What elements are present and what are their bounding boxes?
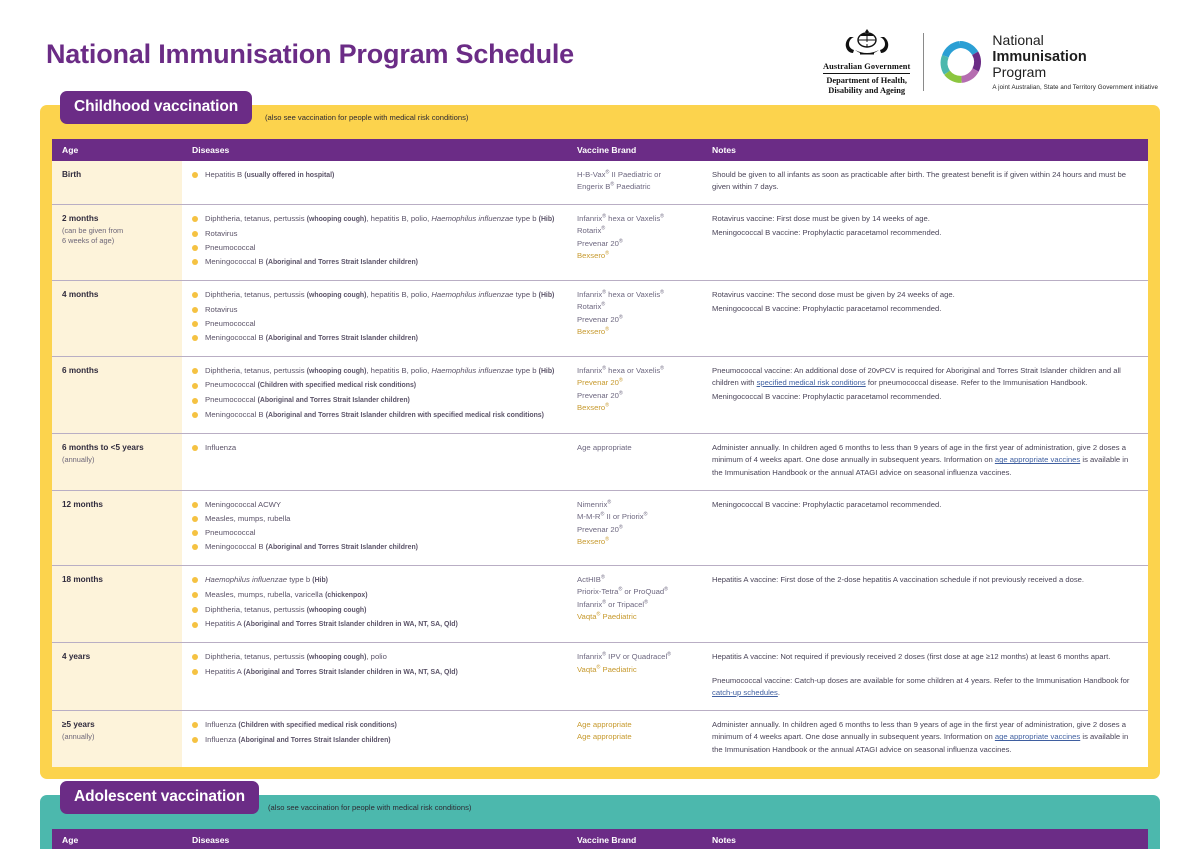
row-age-sub: (annually) (62, 455, 172, 466)
cell-notes: Rotavirus vaccine: First dose must be gi… (702, 205, 1148, 281)
gov-dept-line-b: Disability and Ageing (828, 86, 905, 95)
disease-item: Diphtheria, tetanus, pertussis (whooping… (192, 604, 557, 616)
vaccine-brand-line: Bexsero® (577, 402, 692, 414)
vaccine-brand-line: Vaqta® Paediatric (577, 664, 692, 676)
vaccine-brand-line: Prevenar 20® (577, 238, 692, 250)
vaccine-brand-line: Infanrix® or Tripacel® (577, 599, 692, 611)
disease-item: Meningococcal B (Aboriginal and Torres S… (192, 409, 557, 421)
table-row: 2 months(can be given from6 weeks of age… (52, 205, 1148, 281)
childhood-section-note: (also see vaccination for people with me… (265, 113, 468, 122)
disease-item: Pneumococcal (Aboriginal and Torres Stra… (192, 394, 557, 406)
childhood-table-body: BirthHepatitis B (usually offered in hos… (52, 161, 1148, 767)
disease-item: Hepatitis A (Aboriginal and Torres Strai… (192, 618, 557, 630)
disease-list: Hepatitis B (usually offered in hospital… (192, 169, 557, 181)
adolescent-header-row: Age Diseases Vaccine Brand Notes (52, 829, 1148, 849)
row-age-main: Birth (62, 169, 172, 182)
cell-diseases: Diphtheria, tetanus, pertussis (whooping… (182, 356, 567, 433)
childhood-schedule-table: Age Diseases Vaccine Brand Notes BirthHe… (52, 139, 1148, 767)
note-line: Meningococcal B vaccine: Prophylactic pa… (712, 303, 1138, 315)
row-age-sub: (can be given from6 weeks of age) (62, 226, 172, 247)
disease-item: Hepatitis B (usually offered in hospital… (192, 169, 557, 181)
disease-item: Influenza (Children with specified medic… (192, 719, 557, 731)
cell-vaccine-brand: ActHIB®Priorix-Tetra® or ProQuad®Infanri… (567, 565, 702, 642)
table-row: 4 yearsDiphtheria, tetanus, pertussis (w… (52, 643, 1148, 711)
gov-logo-line1: Australian Government (823, 62, 910, 74)
cell-vaccine-brand: Infanrix® IPV or Quadracel®Vaqta® Paedia… (567, 643, 702, 711)
cell-age: 12 months (52, 490, 182, 565)
inline-link[interactable]: age appropriate vaccines (995, 455, 1080, 464)
note-line: Meningococcal B vaccine: Prophylactic pa… (712, 499, 1138, 511)
row-age-sub: (annually) (62, 732, 172, 743)
cell-age: 6 months (52, 356, 182, 433)
disease-item: Diphtheria, tetanus, pertussis (whooping… (192, 213, 557, 225)
nip-line-national: National (992, 33, 1158, 49)
row-age-main: 18 months (62, 574, 172, 587)
table-row: ≥5 years(annually)Influenza (Children wi… (52, 711, 1148, 767)
disease-item: Meningococcal B (Aboriginal and Torres S… (192, 332, 557, 344)
vaccine-brand-line: Prevenar 20® (577, 390, 692, 402)
cell-vaccine-brand: Infanrix® hexa or Vaxelis®Rotarix®Preven… (567, 280, 702, 356)
note-line: Meningococcal B vaccine: Prophylactic pa… (712, 391, 1138, 403)
vaccine-brand-line: Prevenar 20® (577, 524, 692, 536)
cell-notes: Should be given to all infants as soon a… (702, 161, 1148, 205)
disease-list: Diphtheria, tetanus, pertussis (whooping… (192, 365, 557, 422)
disease-item: Meningococcal ACWY (192, 499, 557, 511)
nip-logo-text: National Immunisation Program A joint Au… (992, 33, 1158, 91)
cell-diseases: Diphtheria, tetanus, pertussis (whooping… (182, 280, 567, 356)
cell-age: Birth (52, 161, 182, 205)
disease-list: Diphtheria, tetanus, pertussis (whooping… (192, 213, 557, 268)
vaccine-brand-line: Bexsero® (577, 326, 692, 338)
disease-list: Diphtheria, tetanus, pertussis (whooping… (192, 289, 557, 344)
vaccine-brand-line: Bexsero® (577, 250, 692, 262)
vaccine-brand-line: Priorix-Tetra® or ProQuad® (577, 586, 692, 598)
col-header-age: Age (52, 139, 182, 161)
disease-item: Rotavirus (192, 228, 557, 240)
cell-age: 4 years (52, 643, 182, 711)
national-immunisation-program-logo: National Immunisation Program A joint Au… (937, 33, 1158, 91)
disease-item: Diphtheria, tetanus, pertussis (whooping… (192, 651, 557, 663)
cell-age: ≥5 years(annually) (52, 711, 182, 767)
row-age-main: 12 months (62, 499, 172, 512)
cell-vaccine-brand: Age appropriate (567, 434, 702, 491)
inline-link[interactable]: specified medical risk conditions (757, 378, 866, 387)
cell-notes: Administer annually. In children aged 6 … (702, 434, 1148, 491)
vaccine-brand-line: Nimenrix® (577, 499, 692, 511)
disease-item: Pneumococcal (Children with specified me… (192, 379, 557, 391)
adolescent-section-note: (also see vaccination for people with me… (268, 803, 471, 812)
vaccine-brand-line: H-B-Vax® II Paediatric or (577, 169, 692, 181)
note-line: Hepatitis A vaccine: Not required if pre… (712, 651, 1138, 663)
row-age-main: 4 months (62, 289, 172, 302)
col-header-notes: Notes (702, 829, 1148, 849)
childhood-section-tab: Childhood vaccination (60, 91, 252, 124)
note-line: Hepatitis A vaccine: First dose of the 2… (712, 574, 1138, 586)
cell-notes: Hepatitis A vaccine: First dose of the 2… (702, 565, 1148, 642)
disease-item: Measles, mumps, rubella (192, 513, 557, 525)
cell-notes: Pneumococcal vaccine: An additional dose… (702, 356, 1148, 433)
cell-diseases: Influenza (Children with specified medic… (182, 711, 567, 767)
disease-item: Diphtheria, tetanus, pertussis (whooping… (192, 289, 557, 301)
disease-list: Influenza (Children with specified medic… (192, 719, 557, 746)
disease-item: Hepatitis A (Aboriginal and Torres Strai… (192, 666, 557, 678)
vaccine-brand-line: Rotarix® (577, 301, 692, 313)
cell-notes: Administer annually. In children aged 6 … (702, 711, 1148, 767)
cell-diseases: Influenza (182, 434, 567, 491)
vaccine-brand-line: Prevenar 20® (577, 377, 692, 389)
immunisation-schedule-page: National Immunisation Program Schedule (0, 0, 1200, 849)
note-line: Rotavirus vaccine: First dose must be gi… (712, 213, 1138, 225)
vaccine-brand-line: Prevenar 20® (577, 314, 692, 326)
cell-vaccine-brand: Infanrix® hexa or Vaxelis®Prevenar 20®Pr… (567, 356, 702, 433)
table-row: BirthHepatitis B (usually offered in hos… (52, 161, 1148, 205)
col-header-diseases: Diseases (182, 829, 567, 849)
cell-diseases: Meningococcal ACWYMeasles, mumps, rubell… (182, 490, 567, 565)
disease-item: Pneumococcal (192, 527, 557, 539)
vaccine-brand-line: Age appropriate (577, 719, 692, 731)
cell-diseases: Haemophilus influenzae type b (Hib)Measl… (182, 565, 567, 642)
note-spacer (712, 666, 1138, 675)
disease-item: Rotavirus (192, 304, 557, 316)
childhood-header-row: Age Diseases Vaccine Brand Notes (52, 139, 1148, 161)
table-row: 6 months to <5 years(annually)InfluenzaA… (52, 434, 1148, 491)
cell-diseases: Diphtheria, tetanus, pertussis (whooping… (182, 643, 567, 711)
logo-divider (923, 33, 924, 91)
disease-item: Meningococcal B (Aboriginal and Torres S… (192, 541, 557, 553)
row-age-main: 6 months to <5 years (62, 442, 172, 455)
childhood-vaccination-panel: Childhood vaccination (also see vaccinat… (40, 105, 1160, 779)
vaccine-brand-line: ActHIB® (577, 574, 692, 586)
cell-diseases: Diphtheria, tetanus, pertussis (whooping… (182, 205, 567, 281)
page-title: National Immunisation Program Schedule (46, 26, 574, 70)
note-line: Administer annually. In children aged 6 … (712, 442, 1138, 479)
disease-item: Pneumococcal (192, 318, 557, 330)
col-header-diseases: Diseases (182, 139, 567, 161)
vaccine-brand-line: M-M-R® II or Priorix® (577, 511, 692, 523)
inline-link[interactable]: catch-up schedules (712, 688, 778, 697)
cell-age: 2 months(can be given from6 weeks of age… (52, 205, 182, 281)
disease-item: Haemophilus influenzae type b (Hib) (192, 574, 557, 586)
disease-list: Diphtheria, tetanus, pertussis (whooping… (192, 651, 557, 678)
note-line: Meningococcal B vaccine: Prophylactic pa… (712, 227, 1138, 239)
childhood-table-head: Age Diseases Vaccine Brand Notes (52, 139, 1148, 161)
disease-list: Haemophilus influenzae type b (Hib)Measl… (192, 574, 557, 631)
note-line: Pneumococcal vaccine: Catch-up doses are… (712, 675, 1138, 700)
cell-vaccine-brand: Age appropriateAge appropriate (567, 711, 702, 767)
disease-item: Influenza (192, 442, 557, 454)
nip-ring-icon (937, 39, 983, 85)
nip-line-program: Program (992, 65, 1158, 81)
adolescent-table-head: Age Diseases Vaccine Brand Notes (52, 829, 1148, 849)
nip-tagline: A joint Australian, State and Territory … (992, 84, 1158, 91)
vaccine-brand-line: Bexsero® (577, 536, 692, 548)
adolescent-vaccination-panel: Adolescent vaccination (also see vaccina… (40, 795, 1160, 849)
cell-vaccine-brand: Nimenrix®M-M-R® II or Priorix®Prevenar 2… (567, 490, 702, 565)
table-row: 6 monthsDiphtheria, tetanus, pertussis (… (52, 356, 1148, 433)
row-age-main: 4 years (62, 651, 172, 664)
col-header-vaccine-brand: Vaccine Brand (567, 139, 702, 161)
cell-notes: Hepatitis A vaccine: Not required if pre… (702, 643, 1148, 711)
disease-list: Influenza (192, 442, 557, 454)
adolescent-schedule-table: Age Diseases Vaccine Brand Notes All age… (52, 829, 1148, 849)
disease-item: Diphtheria, tetanus, pertussis (whooping… (192, 365, 557, 377)
note-line: Administer annually. In children aged 6 … (712, 719, 1138, 756)
row-age-main: 6 months (62, 365, 172, 378)
note-line: Should be given to all infants as soon a… (712, 169, 1138, 194)
disease-item: Pneumococcal (192, 242, 557, 254)
row-age-main: ≥5 years (62, 719, 172, 732)
disease-item: Meningococcal B (Aboriginal and Torres S… (192, 256, 557, 268)
vaccine-brand-line: Rotarix® (577, 225, 692, 237)
gov-dept-line-a: Department of Health, (826, 76, 907, 85)
vaccine-brand-line: Engerix B® Paediatric (577, 181, 692, 193)
disease-item: Measles, mumps, rubella, varicella (chic… (192, 589, 557, 601)
col-header-notes: Notes (702, 139, 1148, 161)
vaccine-brand-line: Vaqta® Paediatric (577, 611, 692, 623)
vaccine-brand-line: Age appropriate (577, 442, 692, 454)
cell-diseases: Hepatitis B (usually offered in hospital… (182, 161, 567, 205)
table-row: 12 monthsMeningococcal ACWYMeasles, mump… (52, 490, 1148, 565)
adolescent-section-tab: Adolescent vaccination (60, 781, 259, 814)
table-row: 18 monthsHaemophilus influenzae type b (… (52, 565, 1148, 642)
vaccine-brand-line: Infanrix® IPV or Quadracel® (577, 651, 692, 663)
nip-line-immunisation: Immunisation (992, 49, 1158, 65)
cell-age: 6 months to <5 years(annually) (52, 434, 182, 491)
note-line: Pneumococcal vaccine: An additional dose… (712, 365, 1138, 390)
inline-link[interactable]: age appropriate vaccines (995, 732, 1080, 741)
cell-notes: Meningococcal B vaccine: Prophylactic pa… (702, 490, 1148, 565)
australian-government-logo: Australian Government Department of Heal… (823, 28, 923, 97)
col-header-vaccine-brand: Vaccine Brand (567, 829, 702, 849)
vaccine-brand-line: Infanrix® hexa or Vaxelis® (577, 213, 692, 225)
cell-notes: Rotavirus vaccine: The second dose must … (702, 280, 1148, 356)
logo-group: Australian Government Department of Heal… (823, 26, 1158, 97)
coat-of-arms-icon (830, 28, 904, 60)
cell-vaccine-brand: H-B-Vax® II Paediatric orEngerix B® Paed… (567, 161, 702, 205)
gov-logo-line2: Department of Health, Disability and Age… (823, 76, 910, 97)
document-header: National Immunisation Program Schedule (0, 0, 1200, 97)
row-age-main: 2 months (62, 213, 172, 226)
note-line: Rotavirus vaccine: The second dose must … (712, 289, 1138, 301)
vaccine-brand-line: Infanrix® hexa or Vaxelis® (577, 289, 692, 301)
cell-age: 18 months (52, 565, 182, 642)
cell-vaccine-brand: Infanrix® hexa or Vaxelis®Rotarix®Preven… (567, 205, 702, 281)
vaccine-brand-line: Age appropriate (577, 731, 692, 743)
disease-list: Meningococcal ACWYMeasles, mumps, rubell… (192, 499, 557, 554)
cell-age: 4 months (52, 280, 182, 356)
disease-item: Influenza (Aboriginal and Torres Strait … (192, 734, 557, 746)
col-header-age: Age (52, 829, 182, 849)
table-row: 4 monthsDiphtheria, tetanus, pertussis (… (52, 280, 1148, 356)
vaccine-brand-line: Infanrix® hexa or Vaxelis® (577, 365, 692, 377)
